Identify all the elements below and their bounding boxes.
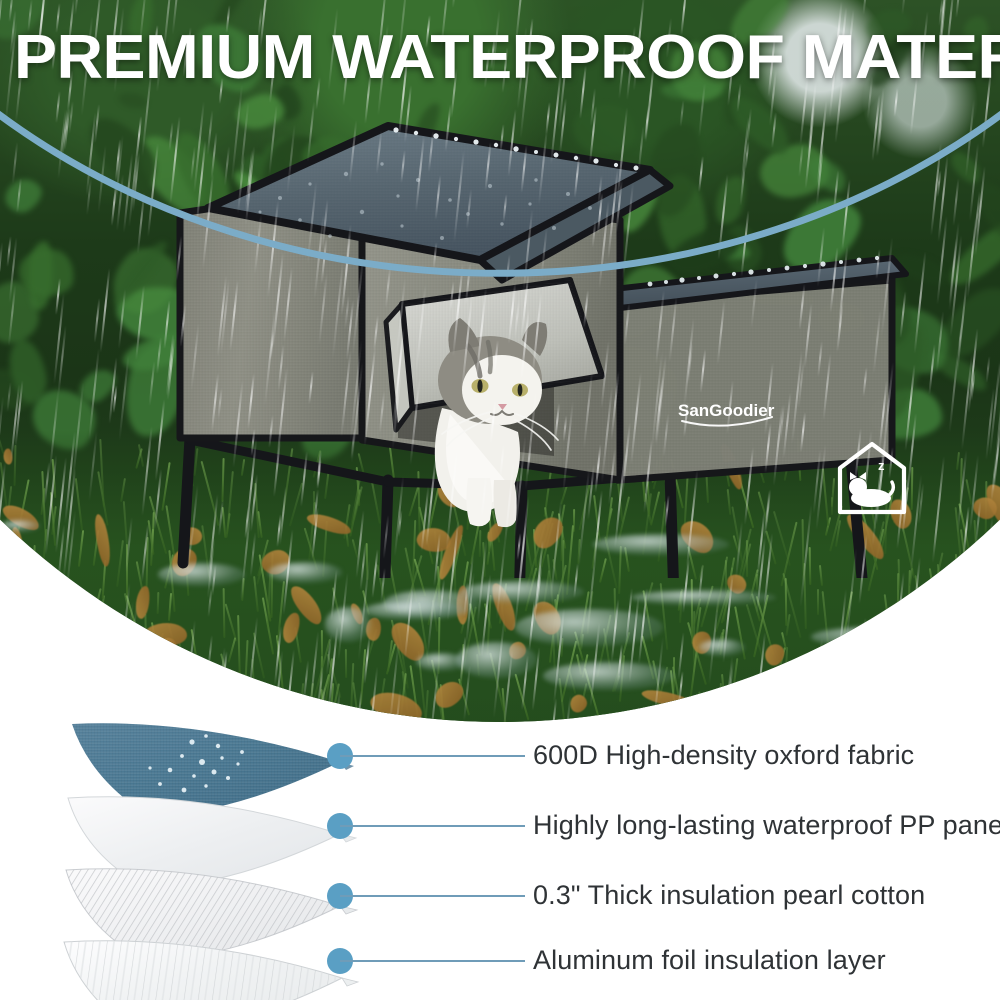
callout-label-4: Aluminum foil insulation layer xyxy=(533,945,886,975)
callout-line-2 xyxy=(340,825,525,827)
layer-swatch-aluminum-foil xyxy=(10,928,360,1000)
product-infographic: z SanGoodier PREMIUM WATERPROOF MATERIAL xyxy=(0,0,1000,1000)
hero-photo-clip: z SanGoodier xyxy=(0,0,1000,722)
callout-label-2: Highly long-lasting waterproof PP panel xyxy=(533,810,1000,840)
callout-line-3 xyxy=(340,895,525,897)
callout-label-1: 600D High-density oxford fabric xyxy=(533,740,914,770)
brand-wordmark: SanGoodier xyxy=(674,395,794,429)
svg-text:SanGoodier: SanGoodier xyxy=(678,401,775,420)
page-title: PREMIUM WATERPROOF MATERIAL xyxy=(14,27,1000,89)
svg-text:z: z xyxy=(878,458,885,473)
material-layers-diagram: 600D High-density oxford fabric Highly l… xyxy=(0,700,1000,1000)
hero-photo: z SanGoodier xyxy=(0,0,1000,722)
cat-house: z xyxy=(150,108,910,578)
callout-line-4 xyxy=(340,960,525,962)
callout-line-1 xyxy=(340,755,525,757)
callout-label-3: 0.3" Thick insulation pearl cotton xyxy=(533,880,925,910)
